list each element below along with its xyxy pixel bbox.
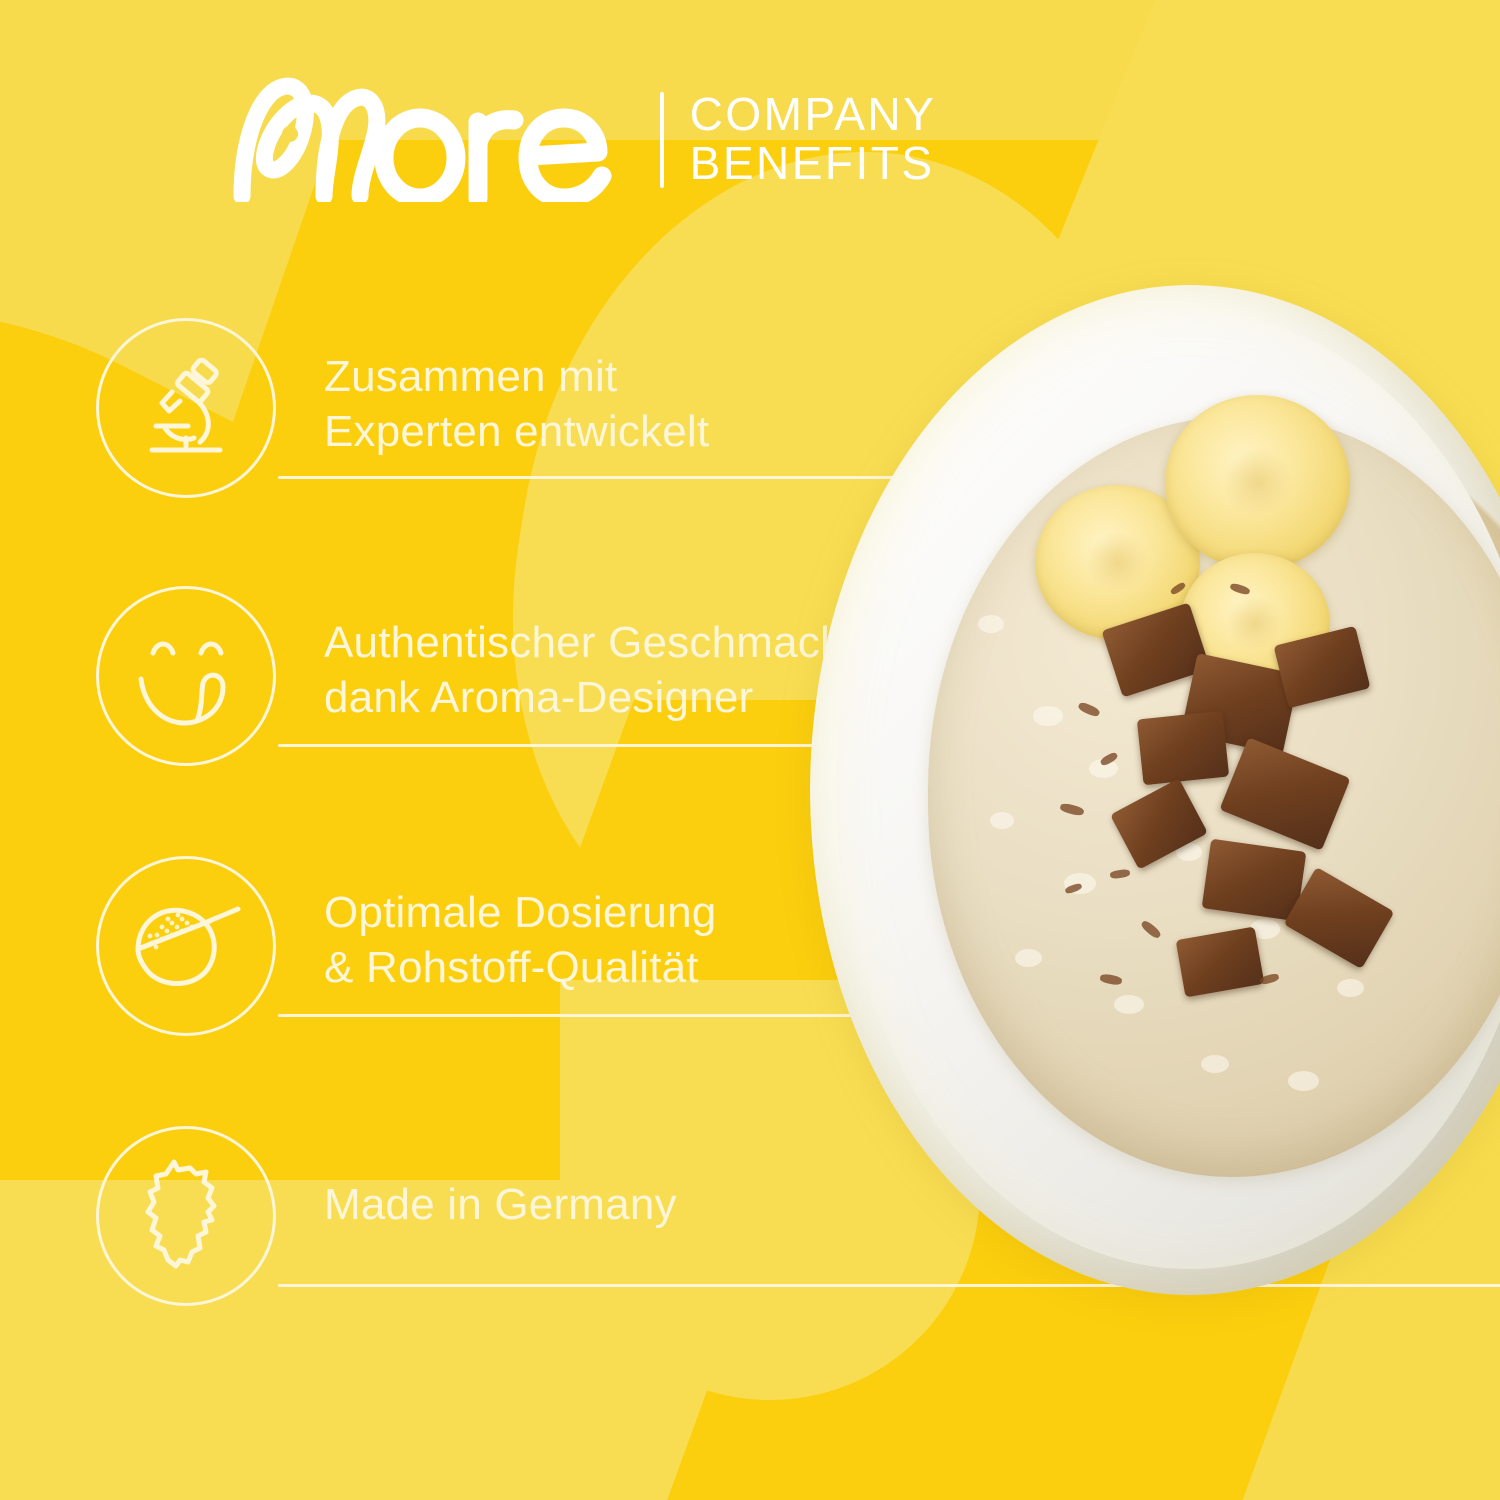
germany-map-icon	[96, 1126, 276, 1306]
benefit-label: Optimale Dosierung & Rohstoff-Qualität	[324, 886, 716, 995]
smiley-licking-lips-icon	[96, 586, 276, 766]
microscope-icon	[96, 318, 276, 498]
chocolate-chunk	[1202, 839, 1307, 922]
benefit-label: Made in Germany	[324, 1178, 677, 1233]
benefit-divider	[278, 1284, 1500, 1287]
chocolate-chunk	[1137, 711, 1229, 786]
benefit-label: Authentischer Geschmack dank Aroma-Desig…	[324, 616, 842, 725]
benefit-label: Zusammen mit Experten entwickelt	[324, 350, 709, 459]
banana-slice	[1165, 395, 1350, 570]
product-benefits-banner: COMPANY BENEFITS	[0, 0, 1500, 1500]
measuring-scoop-icon	[96, 856, 276, 1036]
